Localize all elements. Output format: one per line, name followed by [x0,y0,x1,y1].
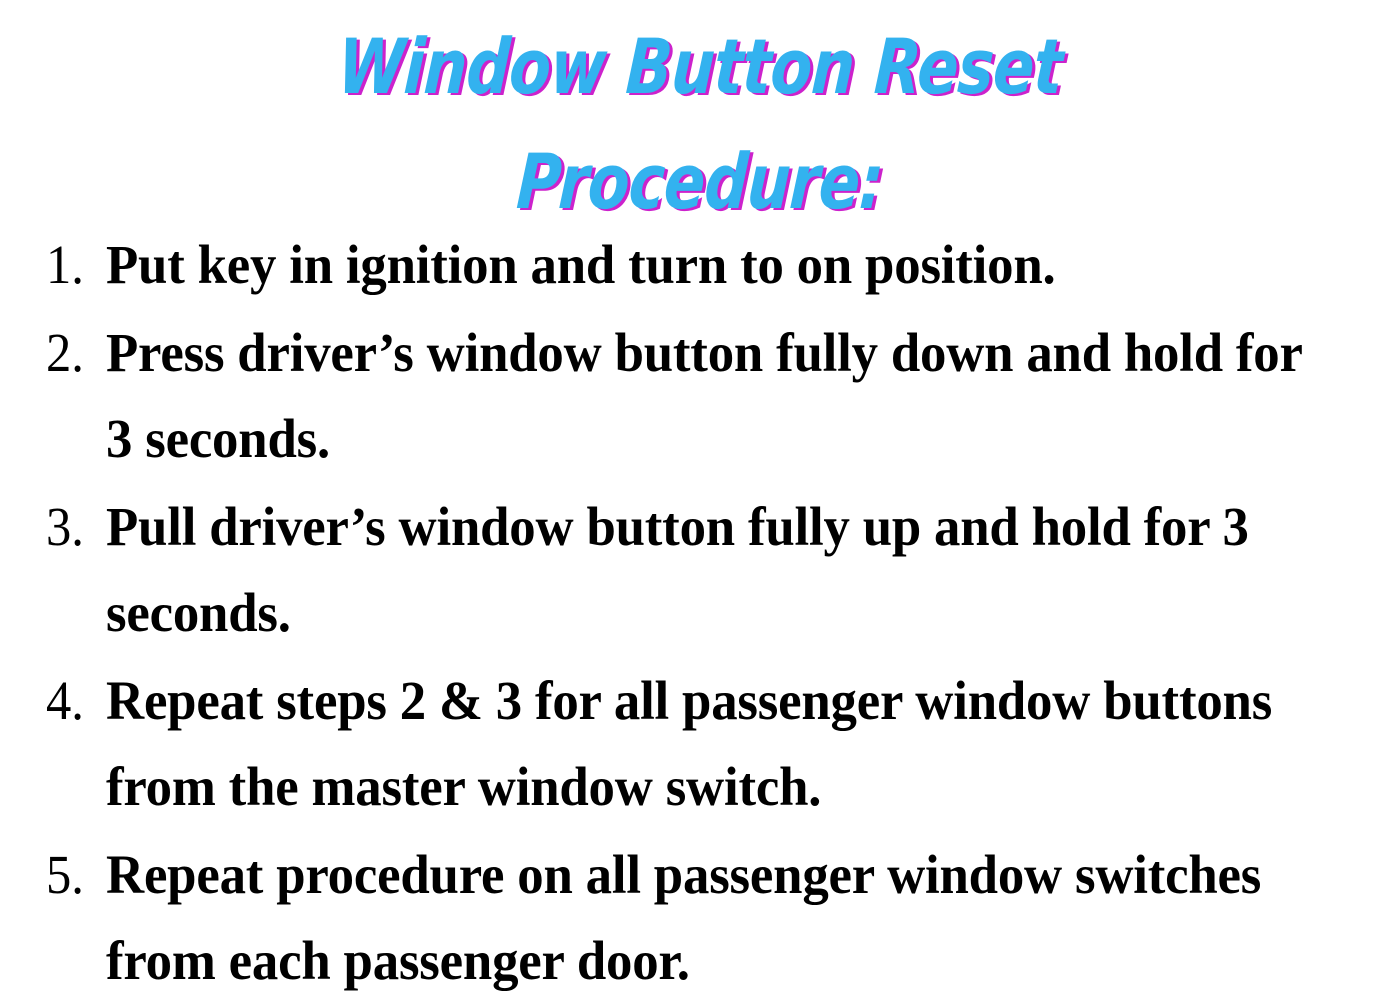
step-text: Press driver’s window button fully down … [106,310,1335,482]
list-item: 5. Repeat procedure on all passenger win… [46,832,1386,1004]
page-title: Window Button Reset Procedure: [0,8,1400,238]
step-text: Put key in ignition and turn to on posit… [106,222,1335,308]
procedure-step-list: 1. Put key in ignition and turn to on po… [46,222,1386,1006]
step-number: 3. [46,484,101,570]
step-number: 4. [46,658,101,744]
step-text: Pull driver’s window button fully up and… [106,484,1335,656]
list-item: 1. Put key in ignition and turn to on po… [46,222,1386,308]
step-text: Repeat procedure on all passenger window… [106,832,1335,1004]
step-number: 5. [46,832,101,918]
list-item: 3. Pull driver’s window button fully up … [46,484,1386,656]
list-item: 2. Press driver’s window button fully do… [46,310,1386,482]
list-item: 4. Repeat steps 2 & 3 for all passenger … [46,658,1386,830]
step-number: 1. [46,222,101,308]
step-number: 2. [46,310,101,396]
page-title-line-1: Window Button Reset [137,8,1264,126]
procedure-page: Window Button Reset Procedure: 1. Put ke… [0,0,1400,1000]
step-text: Repeat steps 2 & 3 for all passenger win… [106,658,1335,830]
